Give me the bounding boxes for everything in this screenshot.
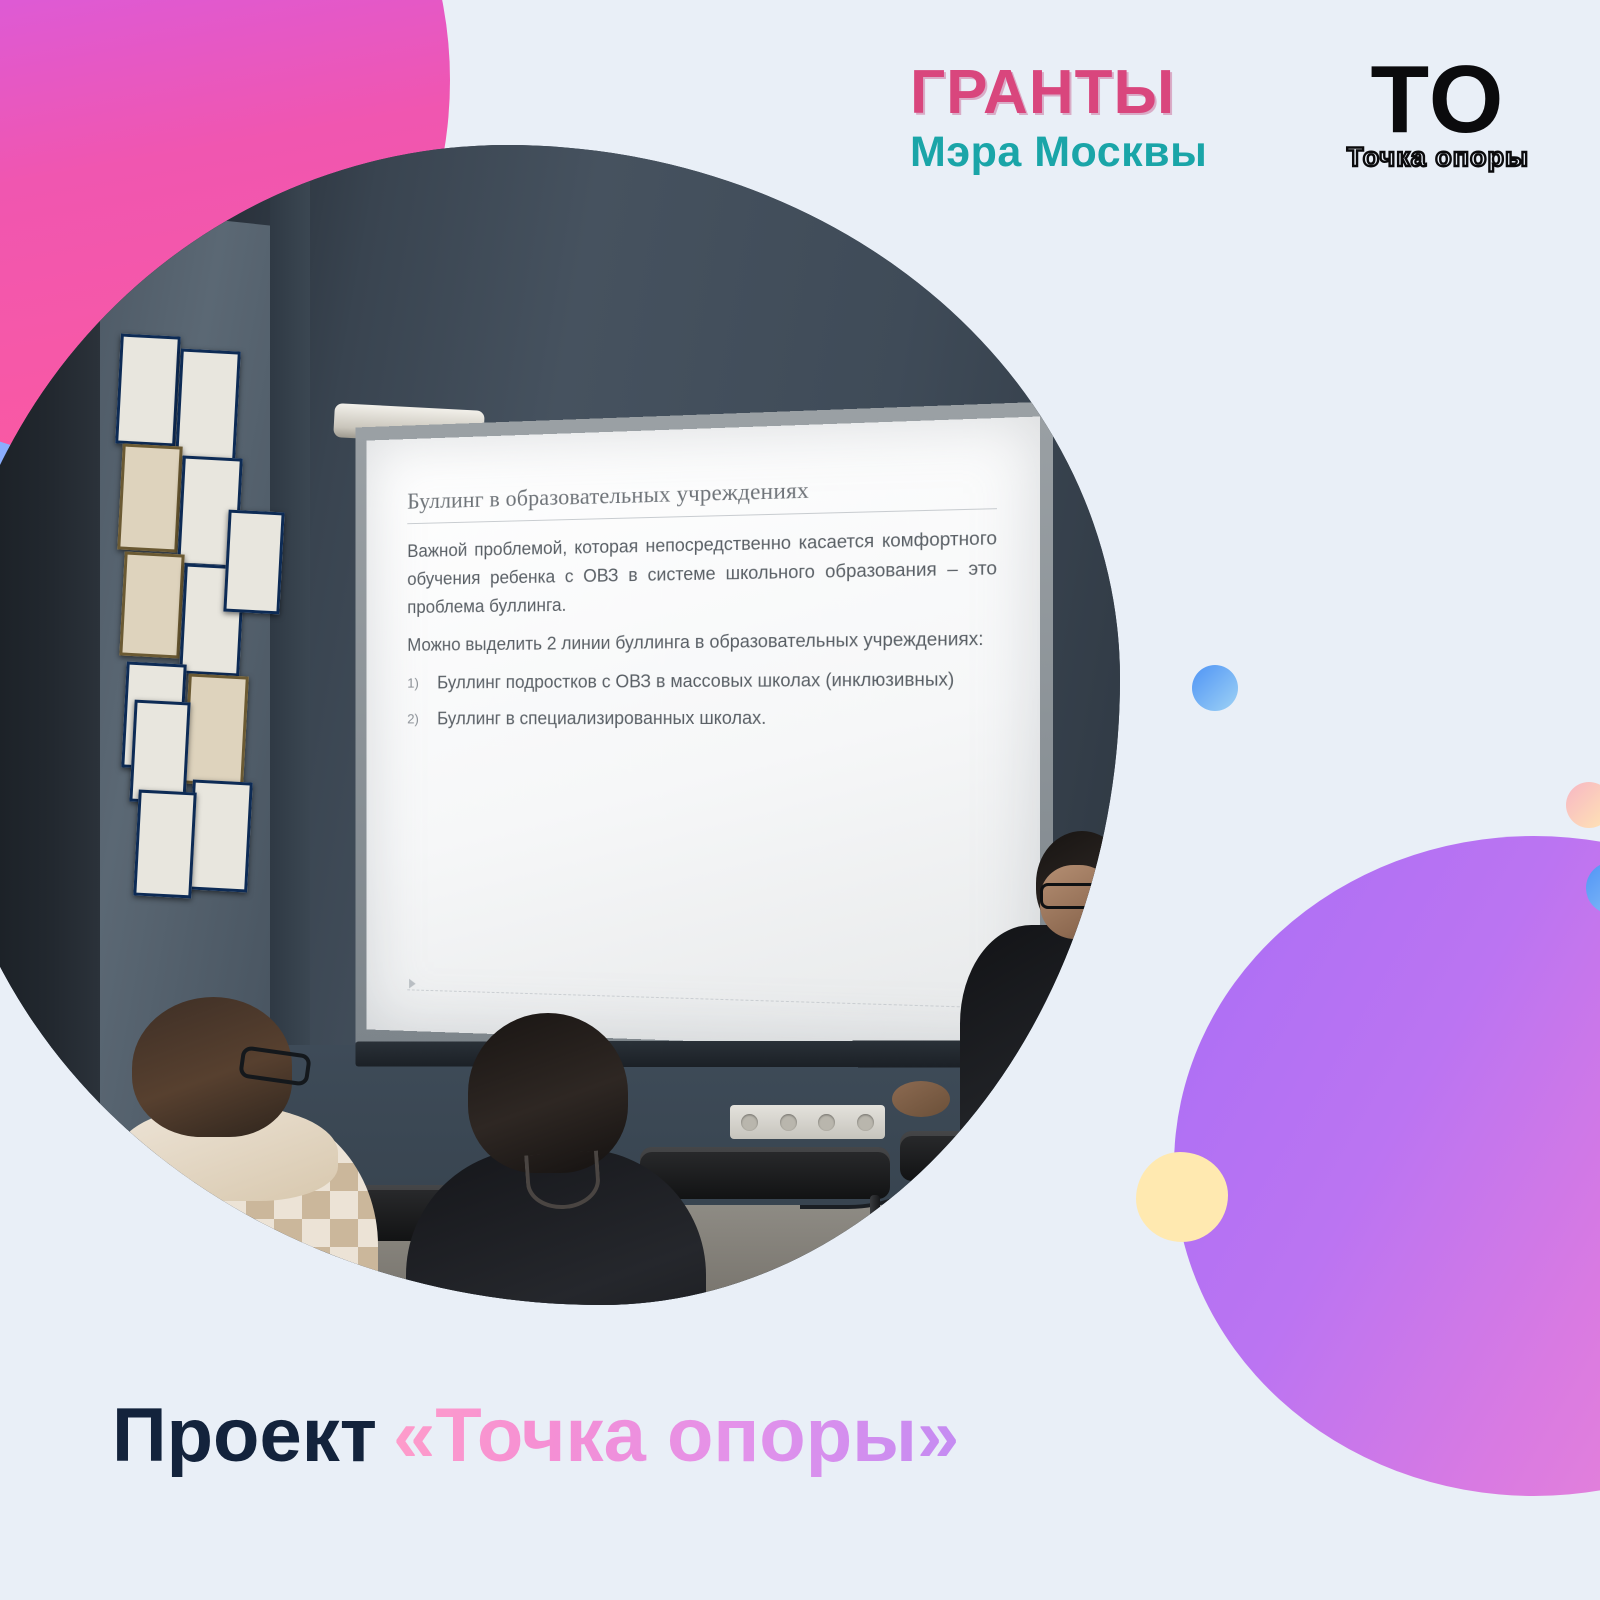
socket-icon xyxy=(741,1114,758,1131)
grants-title: ГРАНТЫ xyxy=(910,62,1207,124)
slide-paragraph-2: Можно выделить 2 линии буллинга в образо… xyxy=(407,625,997,661)
slide-list-text: Буллинг в специализированных школах. xyxy=(437,704,766,731)
certificate-frame xyxy=(115,334,181,447)
certificate-frame xyxy=(133,790,196,899)
caption-prefix: Проект xyxy=(112,1393,377,1478)
dot-blue-medium xyxy=(1586,862,1600,914)
header-lockup: ГРАНТЫ Мэра Москвы ТО Точка опоры xyxy=(900,62,1560,232)
slide-list: 1) Буллинг подростков с ОВЗ в массовых ш… xyxy=(407,665,997,732)
slide-list-item: 1) Буллинг подростков с ОВЗ в массовых ш… xyxy=(407,665,997,696)
certificate-frame xyxy=(175,349,241,462)
logo-caption: Точка опоры xyxy=(1318,142,1558,173)
slide-list-number: 1) xyxy=(407,670,426,696)
slide-list-number: 2) xyxy=(407,706,426,732)
dot-blue-small xyxy=(1192,665,1238,711)
project-caption: Проект«Точка опоры» xyxy=(112,1398,959,1474)
wall-corner xyxy=(270,145,310,1166)
speaker-glasses-icon xyxy=(1040,883,1112,909)
attendee-head xyxy=(468,1013,628,1173)
grants-subtitle: Мэра Москвы xyxy=(910,130,1207,175)
socket-icon xyxy=(857,1114,874,1131)
certificate-frame xyxy=(223,510,284,615)
screen-base xyxy=(356,1040,1053,1067)
event-photo: Буллинг в образовательных учреждениях Ва… xyxy=(0,145,1120,1305)
slide-footer-rule xyxy=(407,989,997,1008)
dot-yellow xyxy=(1136,1152,1228,1242)
slide-title: Буллинг в образовательных учреждениях xyxy=(407,472,997,524)
certificate-frame xyxy=(119,552,184,659)
caption-project-name: «Точка опоры» xyxy=(377,1393,959,1478)
slide-list-item: 2) Буллинг в специализированных школах. xyxy=(407,704,997,732)
speaker-body xyxy=(960,925,1120,1215)
tochka-opory-logo: ТО Точка опоры xyxy=(1318,56,1558,173)
logo-monogram: ТО xyxy=(1318,56,1558,144)
photo-scene: Буллинг в образовательных учреждениях Ва… xyxy=(0,145,1120,1305)
poster-canvas: Буллинг в образовательных учреждениях Ва… xyxy=(0,0,1600,1600)
certificate-frame xyxy=(187,780,253,893)
socket-icon xyxy=(818,1114,835,1131)
wall-sockets xyxy=(730,1105,885,1139)
projection-screen: Буллинг в образовательных учреждениях Ва… xyxy=(367,416,1040,1053)
grants-wordmark: ГРАНТЫ Мэра Москвы xyxy=(910,62,1207,175)
blob-purple-bottom-right xyxy=(1174,836,1600,1496)
slide-paragraph-1: Важной проблемой, которая непосредственн… xyxy=(407,524,997,623)
earring xyxy=(18,1157,48,1195)
certificate-frame xyxy=(117,444,182,553)
socket-icon xyxy=(780,1114,797,1131)
slide-list-text: Буллинг подростков с ОВЗ в массовых школ… xyxy=(437,666,954,696)
presentation-slide: Буллинг в образовательных учреждениях Ва… xyxy=(367,416,1040,1053)
dot-peach xyxy=(1566,782,1600,828)
speaker-hand xyxy=(892,1081,950,1117)
certificate-frame xyxy=(183,674,249,787)
